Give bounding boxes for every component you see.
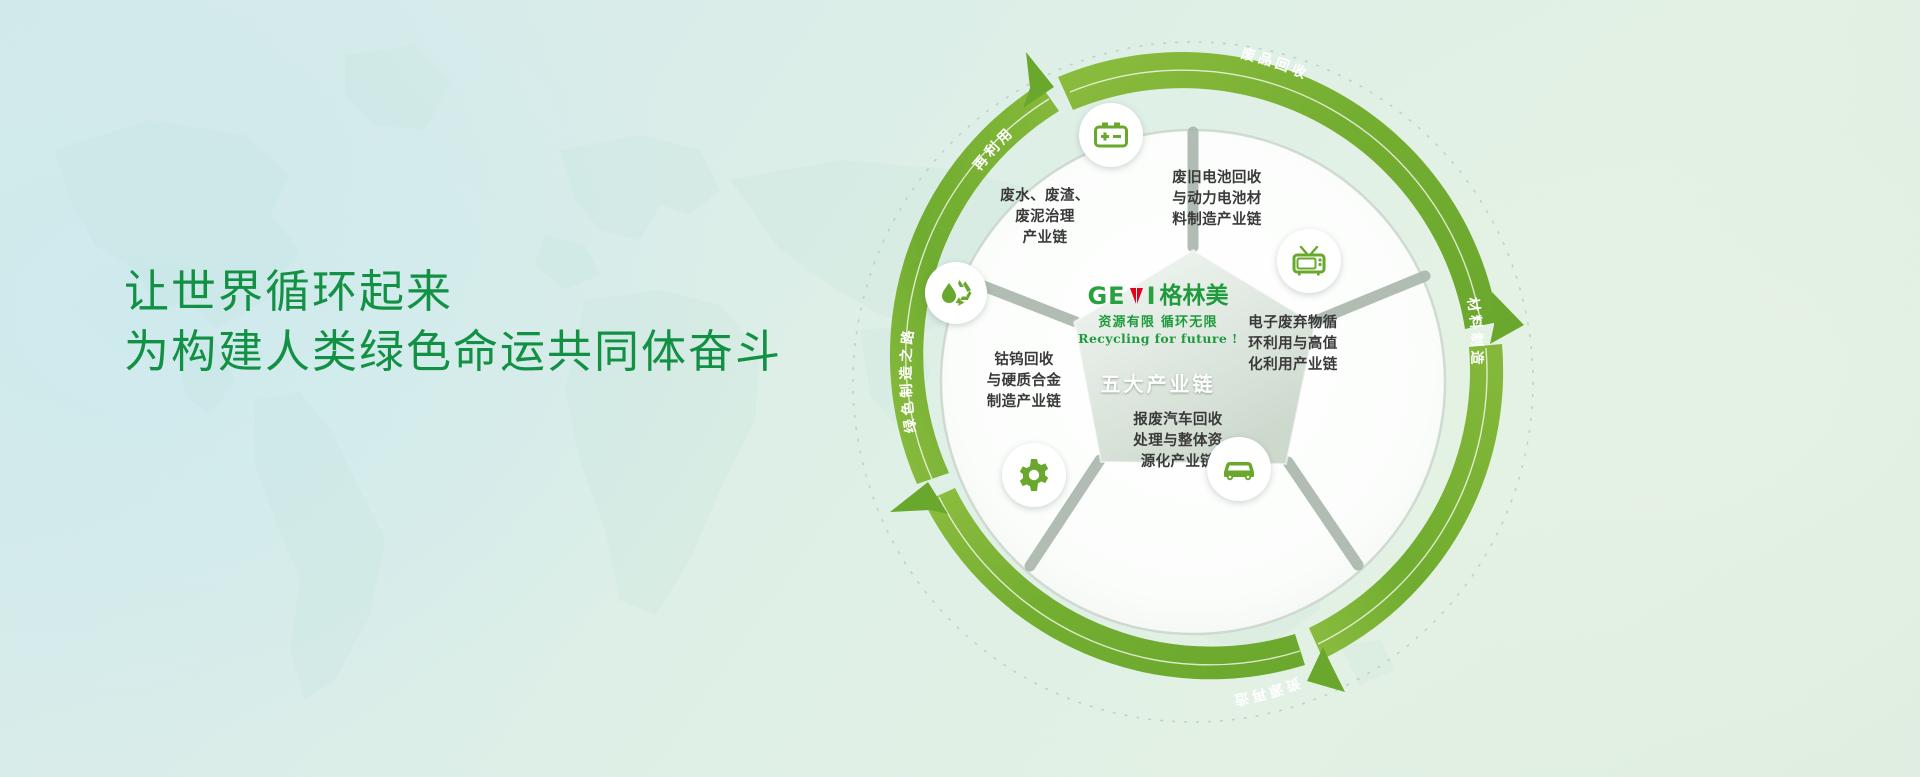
headline-line-1: 让世界循环起来 bbox=[124, 262, 782, 322]
recycle-icon bbox=[938, 276, 974, 310]
battery-icon-bubble[interactable] bbox=[1079, 103, 1143, 167]
gem-brand-cn: 格林美 bbox=[1160, 283, 1229, 309]
gem-core-label: 五大产业链 bbox=[1053, 368, 1263, 397]
gear-icon bbox=[1017, 458, 1051, 492]
gem-brand-en: GE bbox=[1087, 283, 1125, 309]
tv-icon-bubble[interactable] bbox=[1277, 229, 1341, 293]
tv-icon bbox=[1292, 245, 1326, 277]
headline-line-2: 为构建人类绿色命运共同体奋斗 bbox=[124, 322, 782, 382]
gem-brand-en-tail: I bbox=[1147, 283, 1157, 309]
gem-slogan-cn: 资源有限 循环无限 bbox=[1053, 311, 1263, 330]
ring-label-resource-regeneration: 资源再造 bbox=[1230, 674, 1303, 709]
battery-icon bbox=[1094, 121, 1128, 149]
recycle-icon-bubble[interactable] bbox=[925, 262, 987, 324]
car-icon bbox=[1221, 457, 1257, 481]
gem-logo: GE I 格林美 资源有限 循环无限 Recycling for future … bbox=[1053, 283, 1263, 397]
gem-slogan-en: Recycling for future ! bbox=[1053, 331, 1263, 346]
gem-wordmark: GE I 格林美 bbox=[1053, 283, 1263, 309]
chain-label-battery: 废旧电池回收 与动力电池材 料制造产业链 bbox=[1137, 168, 1297, 231]
chain-label-water-waste: 废水、废渣、 废泥治理 产业链 bbox=[965, 186, 1125, 249]
car-icon-bubble[interactable] bbox=[1207, 437, 1271, 501]
background-tint-left bbox=[0, 0, 760, 777]
gear-icon-bubble[interactable] bbox=[1002, 443, 1066, 507]
headline-block: 让世界循环起来 为构建人类绿色命运共同体奋斗 bbox=[124, 262, 782, 382]
red-arrow-mark-icon bbox=[1130, 288, 1143, 304]
